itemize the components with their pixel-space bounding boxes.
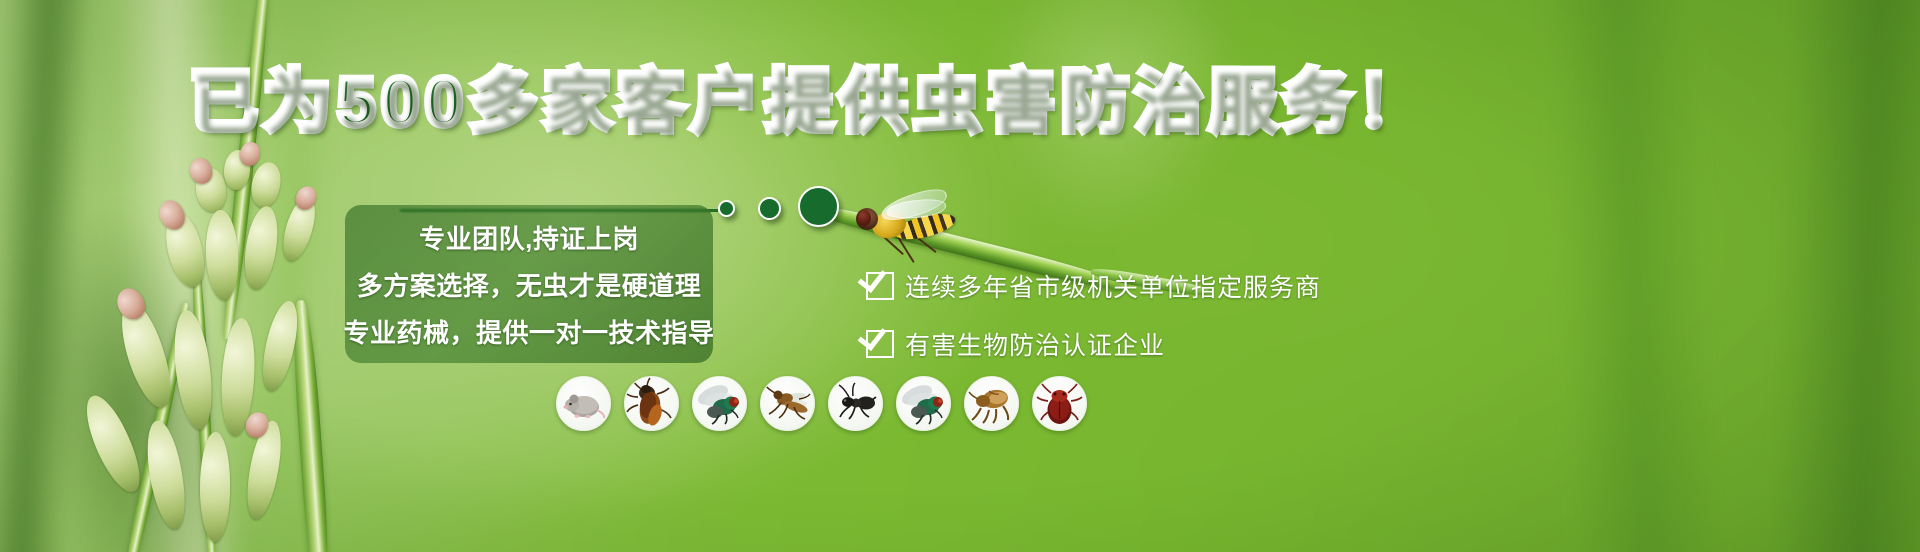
ant-icon[interactable] (828, 376, 883, 431)
bullet-label: 连续多年省市级机关单位指定服务商 (905, 268, 1321, 304)
pest-icon-row (556, 376, 1087, 431)
cockroach-icon[interactable] (624, 376, 679, 431)
feature-line-3: 专业药械，提供一对一技术指导 (344, 313, 715, 350)
fly-icon[interactable] (692, 376, 747, 431)
list-item: 有害生物防治认证企业 (866, 326, 1321, 362)
blowfly-icon[interactable] (896, 376, 951, 431)
banner-headline: 已为500多家客户提供虫害防治服务！ (0, 68, 1620, 136)
hoverfly-eye (858, 210, 871, 226)
hoverfly-icon (846, 196, 966, 258)
flea-icon[interactable] (964, 376, 1019, 431)
decorative-dot-medium (758, 197, 781, 220)
decorative-dot-large (798, 186, 839, 227)
bullet-label: 有害生物防治认证企业 (905, 326, 1165, 362)
banner-headline-text: 已为500多家客户提供虫害防治服务！ (189, 64, 1430, 140)
mosquito-icon[interactable] (760, 376, 815, 431)
feature-panel-text: 专业团队,持证上岗 多方案选择，无虫才是硬道理 专业药械，提供一对一技术指导 (345, 205, 713, 363)
decorative-dot-small (718, 200, 735, 217)
list-item: 连续多年省市级机关单位指定服务商 (866, 268, 1321, 304)
rodent-icon[interactable] (556, 376, 611, 431)
checkbox-checked-icon (866, 330, 894, 358)
checkbox-checked-icon (866, 272, 894, 300)
certification-bullets: 连续多年省市级机关单位指定服务商 有害生物防治认证企业 (866, 268, 1321, 362)
feature-line-2: 多方案选择，无虫才是硬道理 (357, 266, 702, 303)
feature-line-1: 专业团队,持证上岗 (419, 219, 639, 256)
pest-control-banner: 已为500多家客户提供虫害防治服务！ 专业团队,持证上岗 多方案选择，无虫才是硬… (0, 0, 1920, 552)
bedbug-icon[interactable] (1032, 376, 1087, 431)
